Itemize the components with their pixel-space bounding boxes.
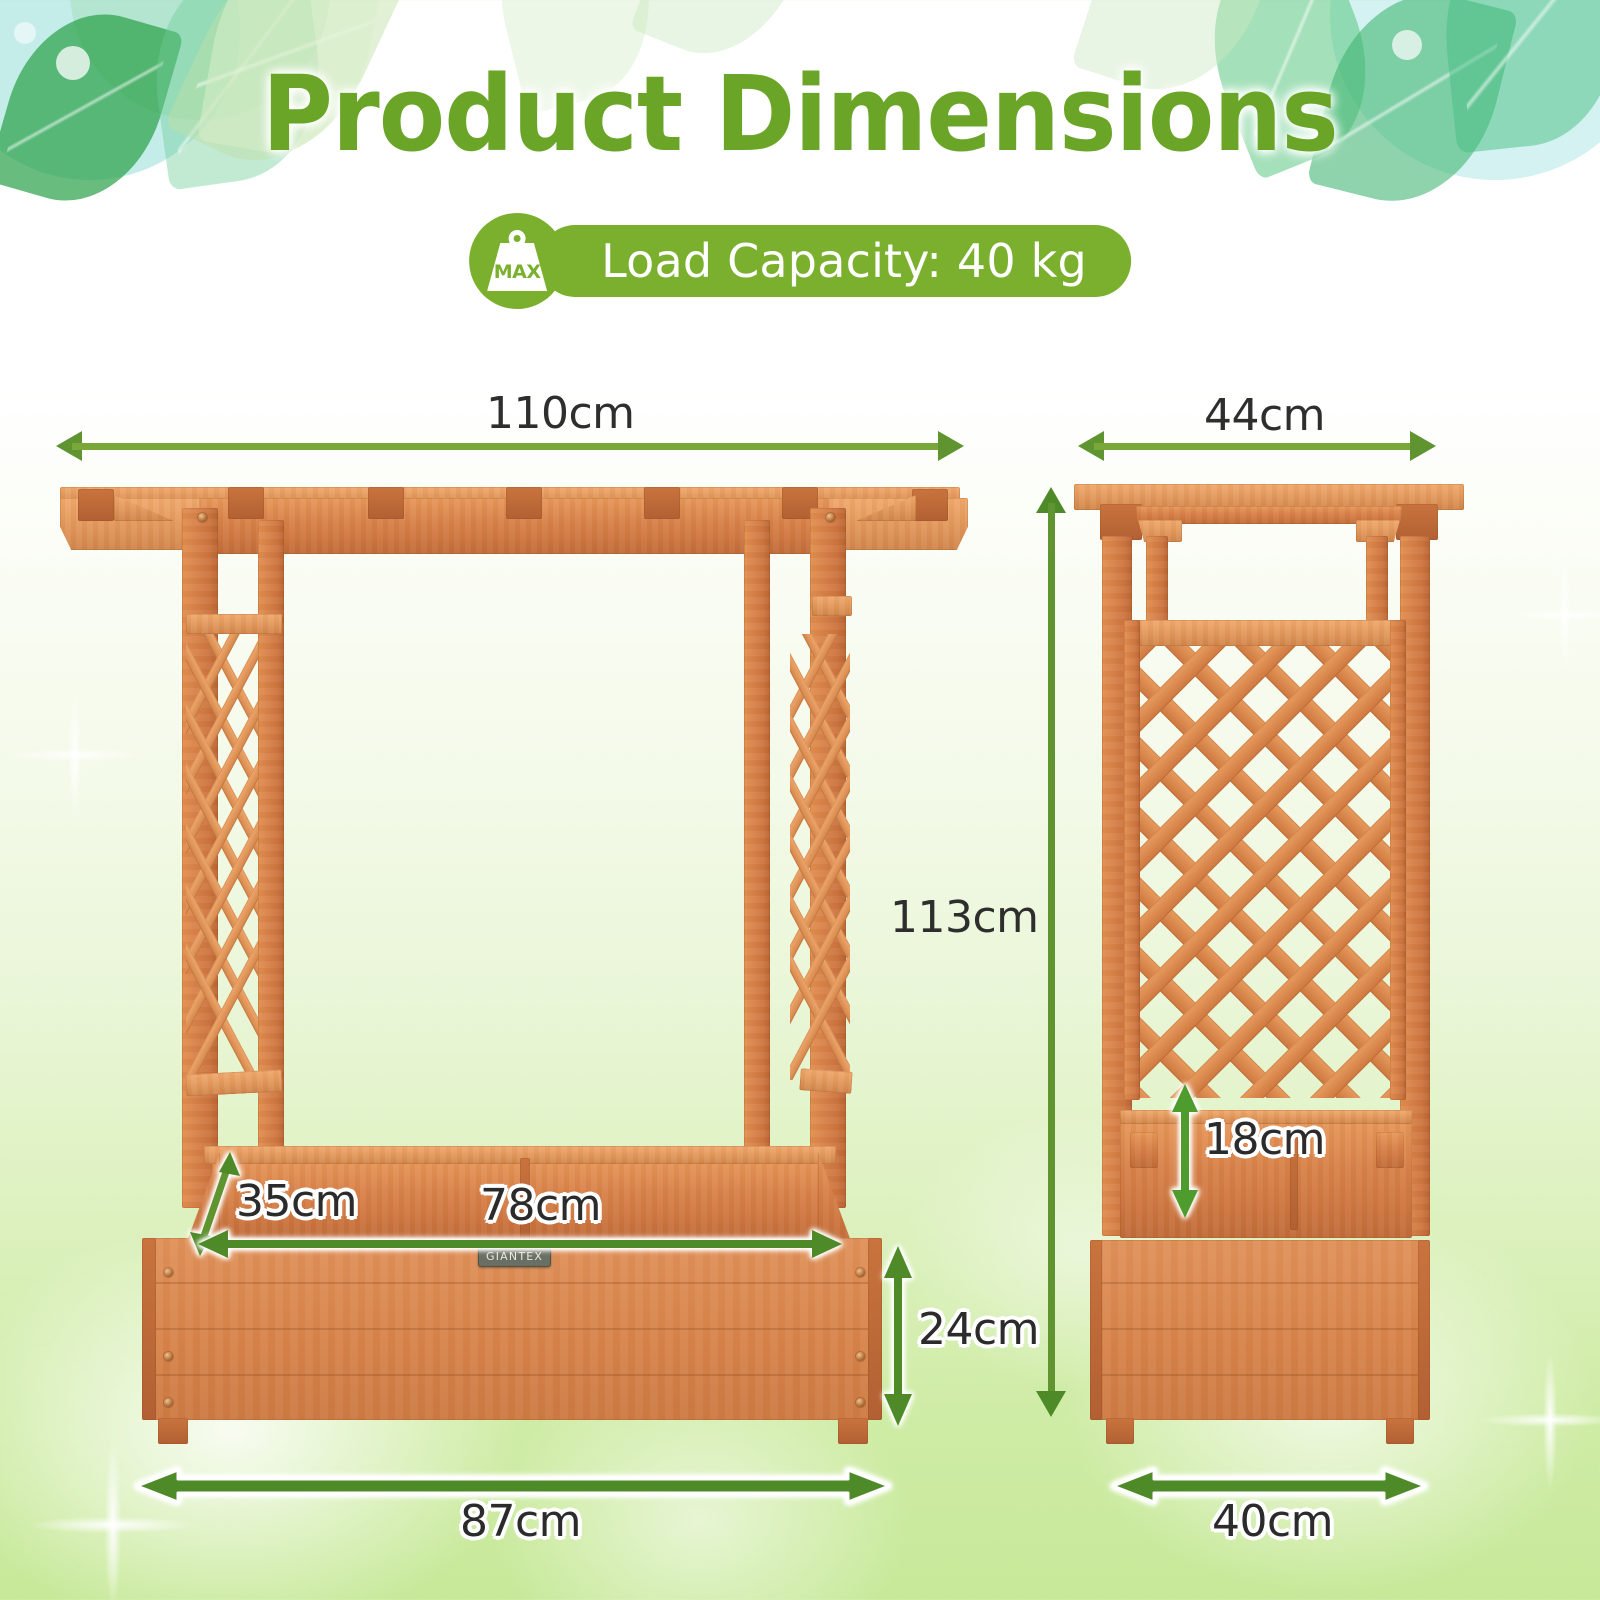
side-top-corner-right xyxy=(1396,504,1438,540)
side-trellis-lattice xyxy=(1128,646,1402,1098)
dimension-arrow-overall-height xyxy=(1036,487,1066,1417)
dimension-arrow-box-height xyxy=(880,1244,916,1428)
trellis-rail-bottom-right xyxy=(799,1068,852,1094)
screw xyxy=(856,1352,865,1361)
trellis-panel-right xyxy=(790,634,850,1080)
dimension-label-inner-height: 18cm xyxy=(1204,1114,1325,1165)
max-icon-text: MAX xyxy=(494,261,541,283)
pergola-crossbeam xyxy=(228,487,264,519)
load-capacity-badge: MAX Load Capacity: 40 kg xyxy=(469,213,1131,309)
side-planter-foot-right xyxy=(1386,1418,1414,1444)
decor-highlight xyxy=(14,22,36,44)
decor-sparkle xyxy=(28,1440,198,1600)
screw xyxy=(164,1398,173,1407)
side-planter-front-panel xyxy=(1096,1240,1424,1420)
screw xyxy=(826,513,835,522)
side-post-right-inner xyxy=(1366,536,1388,626)
pergola-crossbeam xyxy=(368,487,404,519)
pergola-crossbeam xyxy=(644,487,680,519)
page-title: Product Dimensions xyxy=(56,62,1544,166)
side-planter-inner-step-right xyxy=(1376,1132,1404,1168)
decor-sparkle xyxy=(1480,1350,1600,1490)
screw xyxy=(856,1398,865,1407)
dimension-label-base-width: 87cm xyxy=(460,1496,581,1547)
screw xyxy=(164,1268,173,1277)
side-planter-left-edge xyxy=(1090,1240,1102,1420)
load-capacity-label: Load Capacity: 40 kg xyxy=(539,225,1131,297)
planter-foot-left xyxy=(158,1418,188,1444)
decor-sparkle xyxy=(1510,560,1600,670)
planter-foot-right xyxy=(838,1418,868,1444)
trellis-panel-left xyxy=(186,634,258,1080)
dimension-label-overall-width: 110cm xyxy=(486,388,635,439)
trellis-rail-top-right xyxy=(812,596,852,616)
trellis-rail-top-left xyxy=(186,614,282,634)
side-planter-inner-step-left xyxy=(1130,1132,1158,1168)
max-weight-icon: MAX xyxy=(469,213,565,309)
screw xyxy=(164,1352,173,1361)
decor-highlight xyxy=(1392,30,1422,60)
dimension-label-inner-width: 78cm xyxy=(480,1180,601,1231)
side-planter-right-edge xyxy=(1418,1240,1430,1420)
screw xyxy=(198,513,207,522)
pergola-crossbeam xyxy=(78,489,114,521)
dimension-label-box-height: 24cm xyxy=(918,1304,1039,1355)
decor-sparkle xyxy=(10,690,140,820)
dimension-label-inner-depth: 35cm xyxy=(236,1176,357,1227)
dimension-label-base-depth: 40cm xyxy=(1212,1496,1333,1547)
pergola-crossbeam xyxy=(912,489,948,521)
dimension-arrow-inner-height xyxy=(1168,1082,1202,1220)
dimension-arrow-inner-width xyxy=(196,1227,844,1263)
front-post-right-inner xyxy=(744,520,770,1156)
trellis-frame-right xyxy=(1390,620,1406,1100)
dimension-label-overall-depth: 44cm xyxy=(1204,390,1325,441)
screw xyxy=(856,1268,865,1277)
trellis-frame-left xyxy=(1124,620,1140,1100)
planter-left-edge xyxy=(142,1238,156,1420)
trellis-rail-top xyxy=(1126,620,1404,646)
side-planter-foot-left xyxy=(1106,1418,1134,1444)
dimension-label-overall-height: 113cm xyxy=(890,892,1039,943)
pergola-crossbeam xyxy=(506,487,542,519)
side-post-left-inner xyxy=(1146,536,1168,626)
